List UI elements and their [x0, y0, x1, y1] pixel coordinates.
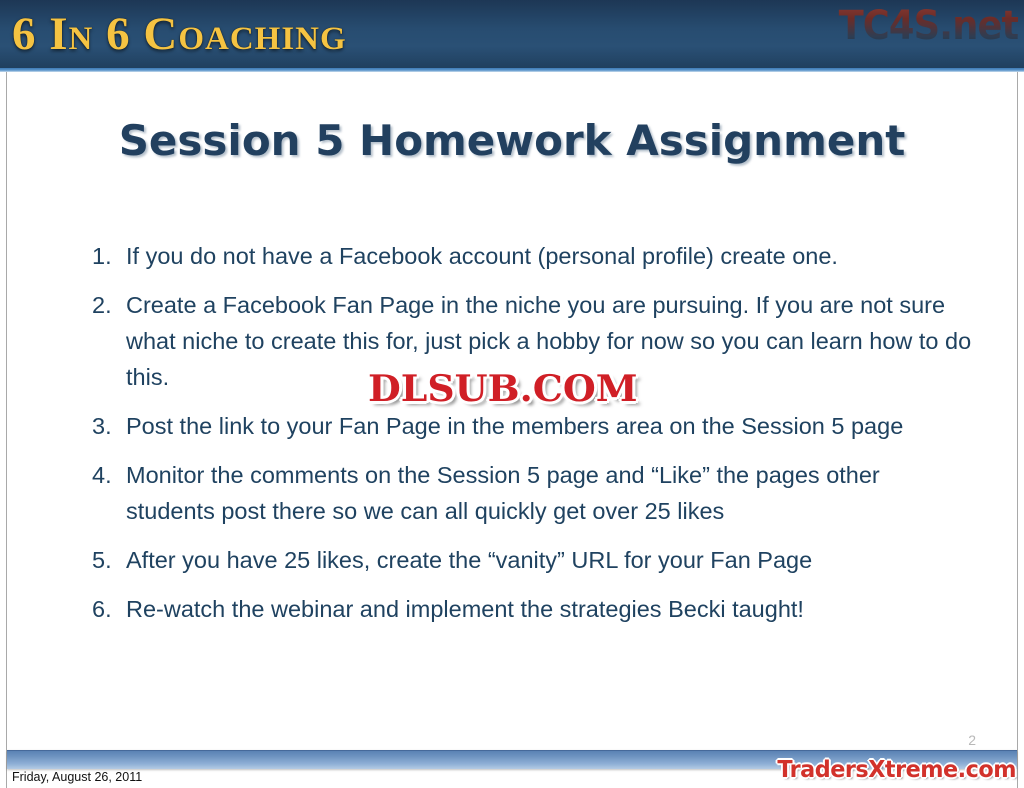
- list-item-text: Re-watch the webinar and implement the s…: [126, 591, 972, 627]
- list-item-number: 6.: [92, 591, 126, 627]
- list-item: 1. If you do not have a Facebook account…: [92, 238, 972, 274]
- page-border-left: [6, 72, 7, 788]
- list-item: 5. After you have 25 likes, create the “…: [92, 542, 972, 578]
- slide-canvas: 6 In 6 Coaching TC4S.net Session 5 Homew…: [0, 0, 1024, 788]
- list-item: 3. Post the link to your Fan Page in the…: [92, 408, 972, 444]
- list-item-text: After you have 25 likes, create the “van…: [126, 542, 972, 578]
- homework-list: 1. If you do not have a Facebook account…: [92, 238, 972, 640]
- list-item-text: Monitor the comments on the Session 5 pa…: [126, 457, 972, 529]
- list-item: 6. Re-watch the webinar and implement th…: [92, 591, 972, 627]
- list-item-number: 1.: [92, 238, 126, 274]
- list-item-text: Post the link to your Fan Page in the me…: [126, 408, 972, 444]
- list-item-text: If you do not have a Facebook account (p…: [126, 238, 972, 274]
- page-border-right: [1017, 72, 1018, 788]
- page-title: Session 5 Homework Assignment: [0, 116, 1024, 165]
- list-item-number: 4.: [92, 457, 126, 493]
- footer-date: Friday, August 26, 2011: [12, 770, 142, 784]
- header-underline-divider: [0, 68, 1024, 72]
- brand-title: 6 In 6 Coaching: [12, 6, 347, 62]
- page-number: 2: [968, 732, 976, 748]
- list-item: 4. Monitor the comments on the Session 5…: [92, 457, 972, 529]
- brand-site-logo: TC4S.net: [838, 2, 1018, 50]
- list-item-number: 2.: [92, 287, 126, 323]
- list-item-number: 3.: [92, 408, 126, 444]
- tradersxtreme-logo: TradersXtreme.com: [777, 757, 1016, 784]
- list-item-number: 5.: [92, 542, 126, 578]
- dlsub-watermark: DLSUB.COM: [368, 368, 638, 410]
- header-banner: 6 In 6 Coaching TC4S.net: [0, 0, 1024, 68]
